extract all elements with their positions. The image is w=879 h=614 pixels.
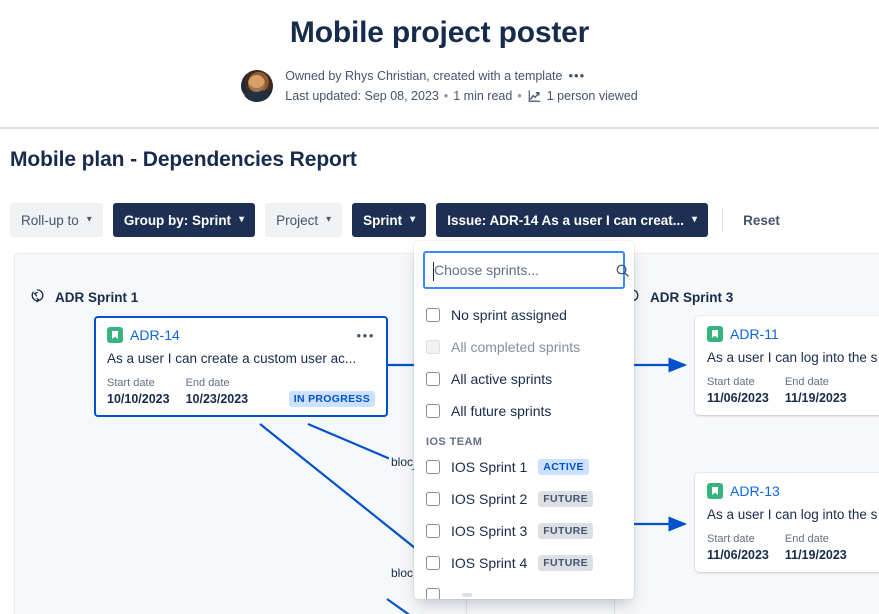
checkbox-icon[interactable] xyxy=(426,588,440,599)
issue-key-wrap: ADR-13 xyxy=(707,483,780,499)
sprint-column-header-2: ADR Sprint 3 xyxy=(624,287,733,307)
chevron-down-icon: ▾ xyxy=(87,214,92,225)
page-title: Mobile project poster xyxy=(0,14,879,52)
checkbox-icon[interactable] xyxy=(426,492,440,506)
link-label-blocks-1: bloc xyxy=(389,455,415,469)
start-date-label: Start date xyxy=(107,376,170,391)
views-label[interactable]: 1 person viewed xyxy=(547,86,638,106)
owner-label: Owned by Rhys Christian, created with a … xyxy=(285,66,562,86)
sprint-option-ios-sprint-2[interactable]: IOS Sprint 2 FUTURE xyxy=(414,483,634,515)
issue-dates: Start date 10/10/2023 End date 10/23/202… xyxy=(107,376,375,407)
sprint-icon xyxy=(29,287,46,307)
issue-key-link[interactable]: ADR-13 xyxy=(730,483,780,499)
sprint-column-title-1: ADR Sprint 1 xyxy=(55,290,138,305)
status-badge: ACTIVE xyxy=(538,459,589,475)
rollup-to-filter-label: Roll-up to xyxy=(21,213,79,228)
end-date-label: End date xyxy=(785,532,847,547)
chevron-down-icon: ▾ xyxy=(410,214,415,225)
end-date-value: 10/23/2023 xyxy=(186,391,249,407)
poster-byline: Owned by Rhys Christian, created with a … xyxy=(0,66,879,106)
search-icon xyxy=(615,263,630,278)
end-date-block: End date 10/23/2023 xyxy=(186,376,249,407)
start-date-block: Start date 10/10/2023 xyxy=(107,376,170,407)
issue-dates: Start date 11/06/2023 End date 11/19/202… xyxy=(707,532,879,563)
sprint-option-all-completed-sprints: All completed sprints xyxy=(414,331,634,363)
issue-card-header: ADR-11 xyxy=(707,326,879,342)
end-date-block: End date 11/19/2023 xyxy=(785,375,847,406)
checkbox-icon[interactable] xyxy=(426,460,440,474)
issue-card-header: ADR-13 xyxy=(707,483,879,499)
text-caret xyxy=(433,262,434,281)
status-badge: FUTURE xyxy=(538,555,593,571)
issue-card-adr-14[interactable]: ADR-14 ••• As a user I can create a cust… xyxy=(94,316,388,417)
start-date-value: 11/06/2023 xyxy=(707,547,769,563)
report-title: Mobile plan - Dependencies Report xyxy=(10,148,357,172)
issue-key-wrap: ADR-14 xyxy=(107,327,180,343)
sprint-dropdown-popup[interactable]: No sprint assigned All completed sprints… xyxy=(414,241,634,599)
read-time-label: 1 min read xyxy=(453,86,512,106)
checkbox-icon[interactable] xyxy=(426,556,440,570)
sprint-option-all-future-sprints[interactable]: All future sprints xyxy=(414,395,634,427)
issue-card-adr-13[interactable]: ADR-13 As a user I can log into the s St… xyxy=(695,473,879,572)
project-filter-label: Project xyxy=(276,213,318,228)
start-date-label: Start date xyxy=(707,532,769,547)
checkbox-icon[interactable] xyxy=(426,404,440,418)
end-date-label: End date xyxy=(785,375,847,390)
issue-summary: As a user I can log into the s xyxy=(707,349,879,367)
sprint-option-label: All completed sprints xyxy=(451,339,580,355)
rollup-to-filter[interactable]: Roll-up to ▾ xyxy=(10,203,103,237)
checkbox-icon xyxy=(426,340,440,354)
checkbox-icon[interactable] xyxy=(426,308,440,322)
start-date-block: Start date 11/06/2023 xyxy=(707,375,769,406)
group-by-filter[interactable]: Group by: Sprint ▾ xyxy=(113,203,255,237)
sprint-option-label: IOS Sprint 2 xyxy=(451,491,527,507)
sprint-group-heading: IOS TEAM xyxy=(414,427,634,451)
start-date-value: 11/06/2023 xyxy=(707,390,769,406)
status-badge: IN PROGRESS xyxy=(289,391,375,407)
issue-key-link[interactable]: ADR-14 xyxy=(130,327,180,343)
sprint-option-label: All active sprints xyxy=(451,371,552,387)
issue-summary: As a user I can log into the s xyxy=(707,506,879,524)
filter-toolbar: Roll-up to ▾ Group by: Sprint ▾ Project … xyxy=(10,203,786,237)
ellipsis-icon[interactable]: ••• xyxy=(568,66,585,86)
chevron-down-icon: ▾ xyxy=(692,214,697,225)
sprint-option-partial[interactable] xyxy=(414,579,634,599)
chevron-down-icon: ▾ xyxy=(326,214,331,225)
sprint-option-label: No sprint assigned xyxy=(451,307,567,323)
story-icon xyxy=(707,326,723,342)
dot-separator-1: • xyxy=(444,86,448,106)
issue-card-adr-11[interactable]: ADR-11 As a user I can log into the s St… xyxy=(695,316,879,415)
sprint-filter-label: Sprint xyxy=(363,213,402,228)
sprint-option-label: All future sprints xyxy=(451,403,551,419)
trend-chart-icon xyxy=(527,89,542,103)
start-date-label: Start date xyxy=(707,375,769,390)
last-updated-label: Last updated: Sep 08, 2023 xyxy=(285,86,439,106)
end-date-label: End date xyxy=(186,376,249,391)
avatar xyxy=(241,70,273,102)
status-badge: FUTURE xyxy=(538,491,593,507)
issue-dates: Start date 11/06/2023 End date 11/19/202… xyxy=(707,375,879,406)
poster-header: Mobile project poster Owned by Rhys Chri… xyxy=(0,0,879,106)
issue-key-wrap: ADR-11 xyxy=(707,326,779,342)
app-root: Mobile project poster Owned by Rhys Chri… xyxy=(0,0,879,614)
sprint-column-header-1: ADR Sprint 1 xyxy=(29,287,138,307)
status-badge xyxy=(462,593,472,597)
dot-separator-2: • xyxy=(517,86,521,106)
checkbox-icon[interactable] xyxy=(426,524,440,538)
start-date-value: 10/10/2023 xyxy=(107,391,170,407)
byline-text: Owned by Rhys Christian, created with a … xyxy=(285,66,637,106)
header-divider xyxy=(0,127,879,129)
issue-key-link[interactable]: ADR-11 xyxy=(730,326,779,342)
end-date-block: End date 11/19/2023 xyxy=(785,532,847,563)
sprint-option-label: IOS Sprint 3 xyxy=(451,523,527,539)
reset-button[interactable]: Reset xyxy=(737,213,786,228)
sprint-search-field[interactable] xyxy=(423,251,625,289)
sprint-option-ios-sprint-1[interactable]: IOS Sprint 1 ACTIVE xyxy=(414,451,634,483)
story-icon xyxy=(107,327,123,343)
story-icon xyxy=(707,483,723,499)
search-input[interactable] xyxy=(434,262,615,278)
sprint-filter[interactable]: Sprint ▾ xyxy=(352,203,426,237)
link-label-blocks-2: bloc xyxy=(389,566,415,580)
ellipsis-icon[interactable]: ••• xyxy=(357,329,375,342)
sprint-column-title-2: ADR Sprint 3 xyxy=(650,290,733,305)
sprint-option-ios-sprint-3[interactable]: IOS Sprint 3 FUTURE xyxy=(414,515,634,547)
issue-summary: As a user I can create a custom user ac.… xyxy=(107,350,375,368)
end-date-value: 11/19/2023 xyxy=(785,547,847,563)
sprint-option-ios-sprint-4[interactable]: IOS Sprint 4 FUTURE xyxy=(414,547,634,579)
status-badge: FUTURE xyxy=(538,523,593,539)
sprint-option-no-sprint-assigned[interactable]: No sprint assigned xyxy=(414,299,634,331)
sprint-option-label: IOS Sprint 1 xyxy=(451,459,527,475)
toolbar-divider xyxy=(722,207,723,233)
sprint-options-list: No sprint assigned All completed sprints… xyxy=(414,295,634,599)
start-date-block: Start date 11/06/2023 xyxy=(707,532,769,563)
chevron-down-icon: ▾ xyxy=(239,214,244,225)
issue-filter-label: Issue: ADR-14 As a user I can creat... xyxy=(447,213,684,228)
issue-filter[interactable]: Issue: ADR-14 As a user I can creat... ▾ xyxy=(436,203,708,237)
sprint-option-all-active-sprints[interactable]: All active sprints xyxy=(414,363,634,395)
group-by-filter-label: Group by: Sprint xyxy=(124,213,231,228)
sprint-search-wrap xyxy=(414,241,634,295)
project-filter[interactable]: Project ▾ xyxy=(265,203,342,237)
issue-card-header: ADR-14 ••• xyxy=(107,327,375,343)
checkbox-icon[interactable] xyxy=(426,372,440,386)
sprint-option-label: IOS Sprint 4 xyxy=(451,555,527,571)
end-date-value: 11/19/2023 xyxy=(785,390,847,406)
